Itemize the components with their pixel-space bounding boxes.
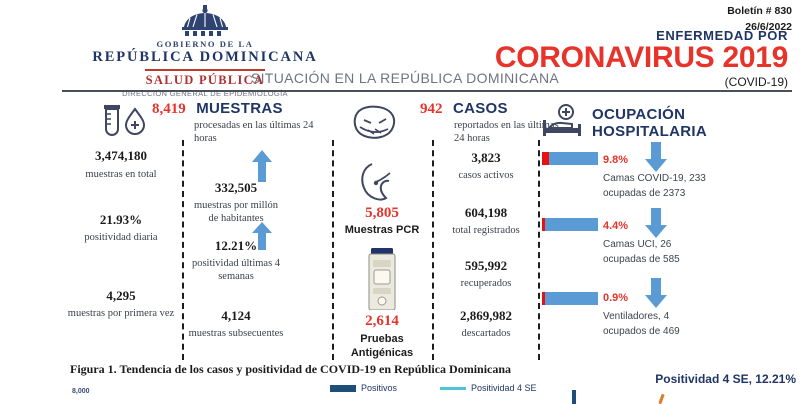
- hospital-title: OCUPACIÓN HOSPITALARIA: [592, 106, 707, 140]
- arrow-down-icon-icu-beds: [645, 208, 667, 238]
- nasal-swab-icon: [356, 160, 398, 206]
- hospital-bed-icon: [541, 104, 583, 138]
- cases-headline-title: CASOS: [453, 100, 508, 117]
- arrow-down-icon-covid-beds: [645, 142, 667, 172]
- total-cases-block: 604,198 total registrados: [436, 205, 536, 237]
- samples-headline: 8,419 MUESTRAS procesadas en las últimas…: [152, 100, 332, 145]
- pcr-block: 5,805 Muestras PCR: [336, 205, 428, 236]
- chart-y-tick: 8,000: [72, 388, 90, 395]
- discarded-block: 2,869,982 descartados: [432, 308, 540, 340]
- hospital-text-covid-beds-line2: ocupadas de 2373: [603, 187, 783, 202]
- gov-line-1: GOBIERNO DE LA: [60, 39, 350, 49]
- per-million-value: 332,505: [188, 180, 284, 196]
- first-time-samples-label: muestras por primera vez: [62, 307, 180, 320]
- recovered-block: 595,992 recuperados: [436, 258, 536, 290]
- pcr-label: Muestras PCR: [336, 224, 428, 236]
- legend-positivos: Positivos: [330, 383, 397, 393]
- hospital-text-icu-beds-line1: Camas UCI, 26: [603, 238, 783, 253]
- per-million-block: 332,505 muestras por millón de habitante…: [188, 180, 284, 225]
- arrow-up-icon-per-million: [252, 150, 272, 182]
- gov-line-2: REPÚBLICA DOMINICANA: [60, 49, 350, 66]
- hospital-text-ventilators: Ventiladores, 4 ocupados de 469: [603, 310, 783, 339]
- cases-headline-number: 942: [420, 101, 443, 117]
- hospital-text-ventilators-line1: Ventiladores, 4: [603, 310, 783, 325]
- daily-positivity-value: 21.93%: [62, 212, 180, 228]
- positivity-4se-value: 12.21%: [188, 238, 284, 254]
- legend-label-positivos: Positivos: [361, 383, 397, 393]
- figure-caption: Figura 1. Tendencia de los casos y posit…: [70, 362, 511, 377]
- arrow-down-icon-ventilators: [645, 278, 667, 308]
- masked-face-icon: [348, 103, 402, 143]
- subsequent-samples-value: 4,124: [188, 308, 284, 324]
- hospital-text-icu-beds: Camas UCI, 26 ocupadas de 585: [603, 238, 783, 267]
- active-cases-block: 3,823 casos activos: [436, 150, 536, 182]
- antigen-value: 2,614: [336, 313, 428, 330]
- hospital-percent-ventilators: 0.9%: [603, 292, 628, 304]
- samples-headline-number: 8,419: [152, 101, 186, 117]
- legend-line-positividad: [440, 387, 466, 390]
- subsequent-samples-block: 4,124 muestras subsecuentes: [188, 308, 284, 340]
- occupied-segment: [542, 152, 549, 165]
- positivity-4se-block: 12.21% positividad últimas 4 semanas: [188, 238, 284, 283]
- positivity-4se-label: positividad últimas 4 semanas: [188, 257, 284, 283]
- hospital-title-line2: HOSPITALARIA: [592, 123, 707, 140]
- total-samples-label: muestras en total: [62, 168, 180, 181]
- hospital-bar-icu-beds: [542, 218, 598, 231]
- hospital-text-ventilators-line2: ocupados de 469: [603, 325, 783, 340]
- occupied-segment: [542, 292, 545, 305]
- discarded-value: 2,869,982: [432, 308, 540, 324]
- chart-bar-positivos: [572, 390, 576, 404]
- samples-headline-sub: procesadas en las últimas 24 horas: [194, 119, 322, 145]
- chart-annotation: Positividad 4 SE, 12.21%: [655, 372, 796, 386]
- total-cases-label: total registrados: [436, 224, 536, 237]
- bulletin-number: Boletín # 830: [727, 4, 792, 20]
- column-divider-2: [332, 140, 334, 360]
- occupied-segment: [542, 218, 545, 231]
- covid-bulletin-page: GOBIERNO DE LA REPÚBLICA DOMINICANA SALU…: [0, 0, 810, 404]
- disease-title: CORONAVIRUS 2019: [495, 43, 788, 74]
- discarded-label: descartados: [432, 327, 540, 340]
- antigen-test-cassette-icon: [363, 248, 401, 310]
- antigen-label-line1: Pruebas: [360, 333, 403, 345]
- antigen-label: Pruebas Antigénicas: [336, 332, 428, 361]
- active-cases-value: 3,823: [436, 150, 536, 166]
- hospital-text-covid-beds-line1: Camas COVID-19, 233: [603, 172, 783, 187]
- hospital-title-line1: OCUPACIÓN: [592, 106, 707, 123]
- legend-swatch-positivos: [330, 385, 356, 392]
- antigen-label-line2: Antigénicas: [351, 347, 413, 359]
- subsequent-samples-label: muestras subsecuentes: [188, 327, 284, 340]
- total-samples-value: 3,474,180: [62, 148, 180, 164]
- recovered-label: recuperados: [436, 277, 536, 290]
- hospital-percent-icu-beds: 4.4%: [603, 220, 628, 232]
- situation-banner: SITUACIÓN EN LA REPÚBLICA DOMINICANA: [0, 70, 810, 86]
- chart-marker-positividad: [658, 394, 664, 404]
- pcr-value: 5,805: [336, 205, 428, 222]
- total-cases-value: 604,198: [436, 205, 536, 221]
- recovered-value: 595,992: [436, 258, 536, 274]
- hospital-percent-covid-beds: 9.8%: [603, 154, 628, 166]
- daily-positivity-block: 21.93% positividad diaria: [62, 212, 180, 244]
- legend-label-positividad: Positividad 4 SE: [471, 383, 537, 393]
- test-tube-blood-drop-icon: [96, 103, 152, 137]
- hospital-text-covid-beds: Camas COVID-19, 233 ocupadas de 2373: [603, 172, 783, 201]
- total-samples-block: 3,474,180 muestras en total: [62, 148, 180, 181]
- legend-positividad: Positividad 4 SE: [440, 383, 537, 393]
- hospital-bar-ventilators: [542, 292, 598, 305]
- header-divider: [62, 90, 792, 92]
- active-cases-label: casos activos: [436, 169, 536, 182]
- column-divider-1: [182, 140, 184, 360]
- first-time-samples-block: 4,295 muestras por primera vez: [62, 288, 180, 320]
- samples-headline-title: MUESTRAS: [196, 100, 283, 117]
- hospital-text-icu-beds-line2: ocupadas de 585: [603, 253, 783, 268]
- antigen-block: 2,614 Pruebas Antigénicas: [336, 313, 428, 361]
- hospital-bar-covid-beds: [542, 152, 598, 165]
- daily-positivity-label: positividad diaria: [62, 231, 180, 244]
- first-time-samples-value: 4,295: [62, 288, 180, 304]
- dominican-republic-crest-icon: [173, 4, 237, 38]
